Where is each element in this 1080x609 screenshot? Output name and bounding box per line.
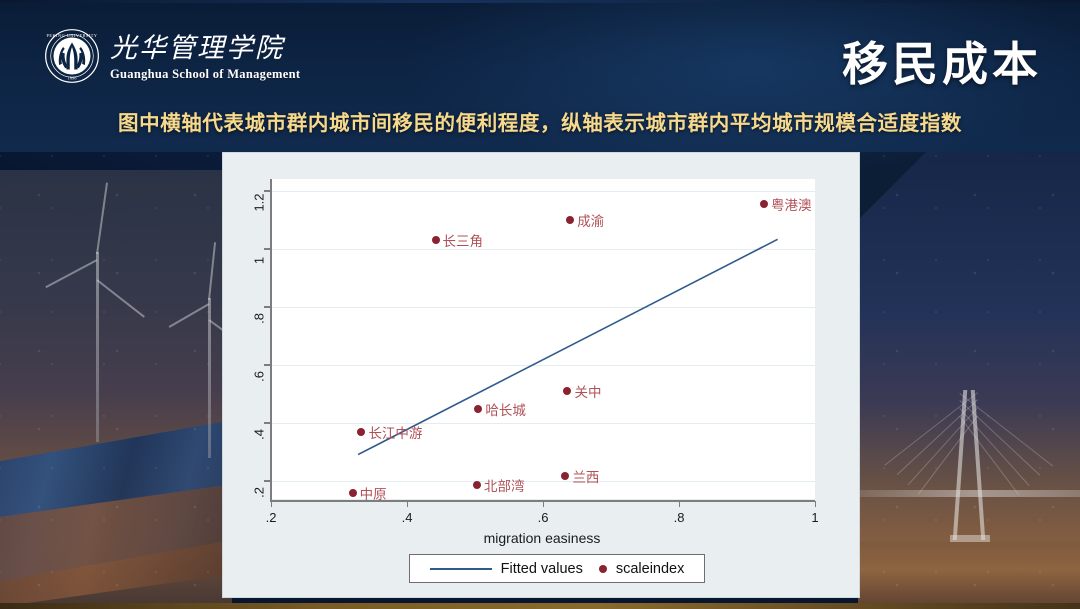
peking-university-seal-icon: PEKING UNIVERSITY 1898	[44, 28, 100, 84]
x-axis-tick	[543, 501, 545, 507]
plot-area	[271, 179, 815, 499]
gridline	[271, 423, 815, 424]
legend-label: scaleindex	[616, 561, 685, 577]
chart-container: .2.4.6.811.2 .2.4.6.81 粤港澳成渝长三角关中哈长城长江中游…	[222, 152, 860, 598]
legend-line-swatch	[430, 568, 492, 570]
y-axis-line	[270, 179, 272, 501]
scatter-point-label: 长江中游	[368, 422, 422, 442]
x-axis-tick-label: .4	[402, 510, 413, 525]
svg-text:光华管理学院: 光华管理学院	[110, 33, 286, 63]
scatter-point-label: 成渝	[577, 210, 604, 230]
svg-text:PEKING UNIVERSITY: PEKING UNIVERSITY	[46, 33, 97, 38]
x-axis-tick-label: .6	[538, 510, 549, 525]
y-axis-tick-label: 1	[252, 247, 267, 273]
brand-logo: PEKING UNIVERSITY 1898 光华管理学院 Guanghua S…	[44, 28, 300, 84]
x-axis-title: migration easiness	[223, 530, 861, 546]
x-axis-tick-label: 1	[811, 510, 818, 525]
scatter-point-label: 关中	[574, 381, 601, 401]
logo-english-name: Guanghua School of Management	[110, 67, 300, 82]
legend-dot-swatch	[599, 565, 607, 573]
scatter-point-label: 兰西	[572, 466, 599, 486]
x-axis-tick	[679, 501, 681, 507]
legend-item-scaleindex: scaleindex	[599, 561, 685, 577]
x-axis-tick	[271, 501, 273, 507]
scatter-point-label: 长三角	[443, 230, 484, 250]
legend-label: Fitted values	[501, 561, 583, 577]
svg-text:1898: 1898	[68, 76, 78, 81]
gridline	[271, 249, 815, 250]
scatter-point	[357, 428, 365, 436]
gridline	[271, 365, 815, 366]
scatter-point-label: 粤港澳	[771, 194, 812, 214]
y-axis-tick-label: .8	[252, 305, 267, 331]
gridline	[271, 481, 815, 482]
scatter-point	[349, 489, 357, 497]
gridline	[271, 307, 815, 308]
scatter-point	[760, 200, 768, 208]
scatter-point	[432, 236, 440, 244]
y-axis-tick-label: .6	[252, 363, 267, 389]
scatter-point-label: 哈长城	[485, 399, 526, 419]
scatter-point	[561, 472, 569, 480]
scatter-point	[566, 216, 574, 224]
header-top-rule	[0, 0, 1080, 3]
y-axis-tick-label: .4	[252, 421, 267, 447]
scatter-point	[473, 481, 481, 489]
x-axis-tick-label: .2	[266, 510, 277, 525]
scatter-point-label: 北部湾	[484, 475, 525, 495]
slide: PEKING UNIVERSITY 1898 光华管理学院 Guanghua S…	[0, 0, 1080, 609]
page-title: 移民成本	[842, 28, 1042, 94]
logo-chinese-wordmark: 光华管理学院	[110, 31, 300, 65]
scatter-point	[563, 387, 571, 395]
x-axis-tick	[407, 501, 409, 507]
gridline	[271, 191, 815, 192]
y-axis-tick-label: 1.2	[252, 189, 267, 215]
legend-item-fitted-values: Fitted values	[430, 561, 583, 577]
chart-legend: Fitted values scaleindex	[409, 554, 705, 583]
slide-subtitle: 图中横轴代表城市群内城市间移民的便利程度，纵轴表示城市群内平均城市规模合适度指数	[0, 106, 1080, 136]
x-axis-tick-label: .8	[674, 510, 685, 525]
y-axis-tick-label: .2	[252, 479, 267, 505]
x-axis-tick	[815, 501, 817, 507]
scatter-point	[474, 405, 482, 413]
scatter-point-label: 中原	[360, 483, 387, 503]
bottom-accent-rule	[0, 603, 1080, 609]
